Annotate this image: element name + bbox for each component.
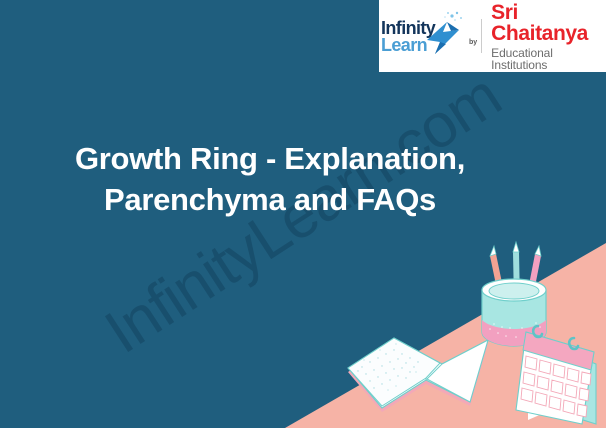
promo-banner: InfinityLearn.com Infinity Learn by Sri … bbox=[0, 0, 606, 428]
logo-connector-by: by bbox=[469, 27, 477, 46]
brand-logo-box[interactable]: Infinity Learn by Sri Chaitanya Educatio… bbox=[379, 0, 606, 72]
sri-chaitanya-logo: Sri Chaitanya Educational Institutions bbox=[486, 2, 606, 71]
open-book-illustration bbox=[348, 338, 488, 412]
desk-illustration bbox=[330, 228, 606, 428]
page-title: Growth Ring - Explanation, Parenchyma an… bbox=[0, 139, 540, 221]
partner-name: Sri Chaitanya bbox=[491, 2, 606, 44]
infinity-learn-logo: Infinity Learn bbox=[379, 10, 465, 62]
logo-divider bbox=[481, 19, 482, 53]
partner-tagline: Educational Institutions bbox=[491, 47, 606, 71]
pencil-cup-illustration bbox=[482, 242, 546, 346]
desk-calendar-illustration bbox=[516, 326, 596, 424]
arrow-swoosh-icon bbox=[421, 10, 465, 58]
